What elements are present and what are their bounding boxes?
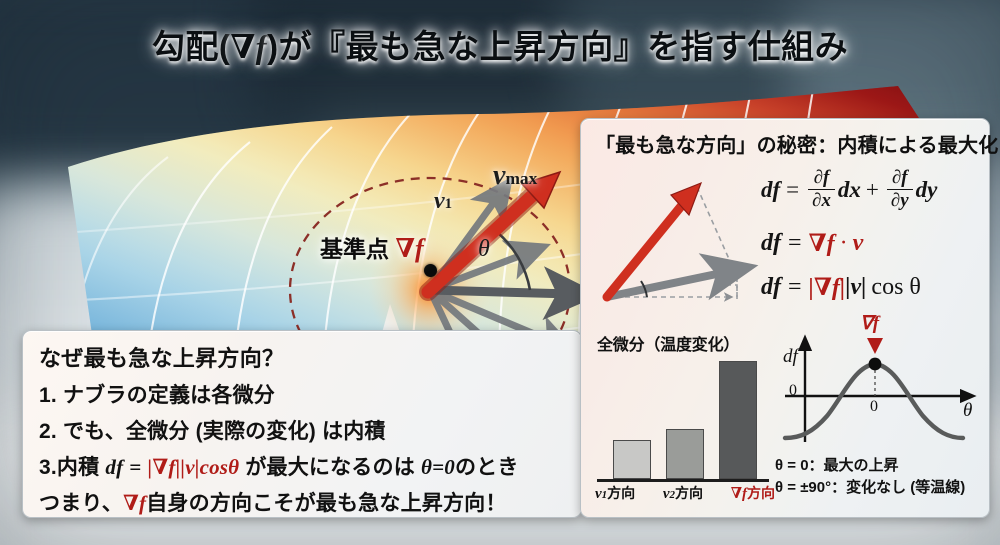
eq1-plus: +: [866, 177, 879, 203]
item-3-pre: 内積: [57, 456, 99, 479]
eq2-gradient: ∇f: [809, 228, 835, 258]
title-prefix: 勾配(: [152, 28, 231, 65]
diagram-canvas: 勾配(∇f)が『最も急な上昇方向』を指す仕組み: [0, 0, 1000, 545]
item-3-tail: のとき: [455, 456, 519, 479]
eq2-dot: ·: [840, 230, 848, 257]
eq1-partial-x: ∂f ∂x: [808, 167, 835, 212]
bar-label-gradient: ∇f方向: [731, 483, 775, 503]
inner-product-panel: 「最も急な方向」の秘密：内積による最大化: [580, 118, 990, 518]
explanation-item-3: 3.内積 df = |∇f||v|cosθ が最大になるのは θ=0のとき: [39, 451, 567, 481]
item-3-theta-condition: θ=0: [421, 455, 455, 479]
cos-xlabel: θ: [963, 400, 972, 422]
base-point-dot: [424, 264, 437, 277]
equation-dot-product: df = ∇f · v: [761, 228, 986, 258]
eq2-lhs: df: [761, 230, 781, 257]
bar-chart-baseline: [597, 479, 769, 482]
bar-label-v2: v2方向: [663, 483, 703, 503]
conclusion-post: 自身の方向こそが最も急な上昇方向！: [146, 492, 506, 515]
equation-magnitude-cos: df = |∇f| |v| cos θ: [761, 272, 986, 302]
eq1-lhs: df: [761, 177, 780, 203]
eq1-partial-y: ∂f ∂y: [887, 167, 913, 212]
conclusion-pre: つまり、: [39, 492, 123, 515]
bar-chart-plot: [605, 361, 765, 479]
item-3-number: 3.: [39, 456, 57, 479]
explanation-item-2: 2. でも、全微分 (実際の変化) は内積: [39, 415, 567, 445]
cos-ylabel: df: [783, 346, 798, 368]
bar-v2: [666, 429, 704, 479]
reference-direction-vector: [430, 290, 572, 294]
label-base-point: 基準点 ∇f: [320, 230, 424, 264]
eq1-equals: =: [786, 177, 799, 203]
gradient-pointer-triangle: [867, 338, 883, 354]
explanation-item-1: 1. ナブラの定義は各微分: [39, 379, 567, 409]
item-3-df: df: [105, 455, 123, 479]
equation-list: df = ∂f ∂x dx + ∂f ∂y dy df = ∇f · v: [761, 161, 986, 302]
panel-title: 「最も急な方向」の秘密：内積による最大化: [595, 129, 998, 158]
eq3-equals: =: [788, 274, 802, 301]
eq3-vector-abs: |v|: [845, 274, 866, 301]
conclusion-nabla: ∇f: [123, 491, 146, 515]
peak-marker-dot: [869, 358, 882, 371]
eq3-cos: cos θ: [871, 274, 921, 301]
eq1-dx: dx: [838, 177, 861, 203]
eq3-gradient-abs: |∇f|: [809, 272, 846, 302]
title-nabla-symbol: ∇f: [230, 30, 267, 66]
page-title: 勾配(∇f)が『最も急な上昇方向』を指す仕組み: [0, 20, 1000, 68]
item-3-formula-body: |∇f||v|cosθ: [148, 455, 240, 479]
equation-total-differential: df = ∂f ∂x dx + ∂f ∂y dy: [761, 167, 986, 212]
cosine-response-chart: df θ 0 0 ∇f θ = 0：最大の上昇 θ = ±90°：変化なし (等…: [771, 324, 986, 514]
cos-annotation-1: θ = 0：最大の上昇: [775, 454, 899, 475]
eq2-vector: v: [853, 230, 864, 257]
explanation-conclusion: つまり、∇f自身の方向こそが最も急な上昇方向！: [39, 487, 567, 517]
eq2-equals: =: [788, 230, 802, 257]
item-2-number: 2.: [39, 420, 57, 443]
eq1-dy: dy: [916, 177, 938, 203]
explanation-heading: なぜ最も急な上昇方向？: [39, 341, 567, 373]
total-differential-bar-chart: 全微分（温度変化） v1方向 v2方向 ∇f方向: [591, 331, 776, 511]
label-v-max: vmax: [493, 160, 537, 192]
explanation-box: なぜ最も急な上昇方向？ 1. ナブラの定義は各微分 2. でも、全微分 (実際の…: [22, 330, 582, 518]
title-suffix: )が『最も急な上昇方向』を指す仕組み: [267, 28, 848, 65]
bar-v1: [613, 440, 651, 479]
bar-label-v1: v1方向: [595, 483, 635, 503]
vector-projection-diagram: [589, 159, 774, 319]
eq3-lhs: df: [761, 274, 781, 301]
bar-chart-labels: v1方向 v2方向 ∇f方向: [595, 483, 775, 503]
label-v1-upper: v1: [434, 188, 452, 215]
bar-chart-title: 全微分（温度変化）: [597, 331, 739, 355]
cos-peak-label: ∇f: [860, 312, 879, 335]
item-3-equals: =: [129, 455, 141, 479]
cos-annotation-2: θ = ±90°：変化なし (等温線): [775, 476, 965, 497]
label-theta-surface: θ: [478, 236, 490, 263]
cos-y-zero-tick: 0: [789, 382, 797, 400]
item-1-number: 1.: [39, 384, 57, 407]
cos-x-zero-tick: 0: [870, 398, 878, 416]
cosine-plot-svg: [771, 324, 986, 454]
bar-gradient: [719, 361, 757, 479]
item-1-text: ナブラの定義は各微分: [63, 384, 275, 407]
item-2-text: でも、全微分 (実際の変化) は内積: [63, 420, 386, 443]
base-point-nabla: ∇f: [395, 234, 423, 263]
item-3-post: が最大になるのは: [245, 456, 415, 479]
